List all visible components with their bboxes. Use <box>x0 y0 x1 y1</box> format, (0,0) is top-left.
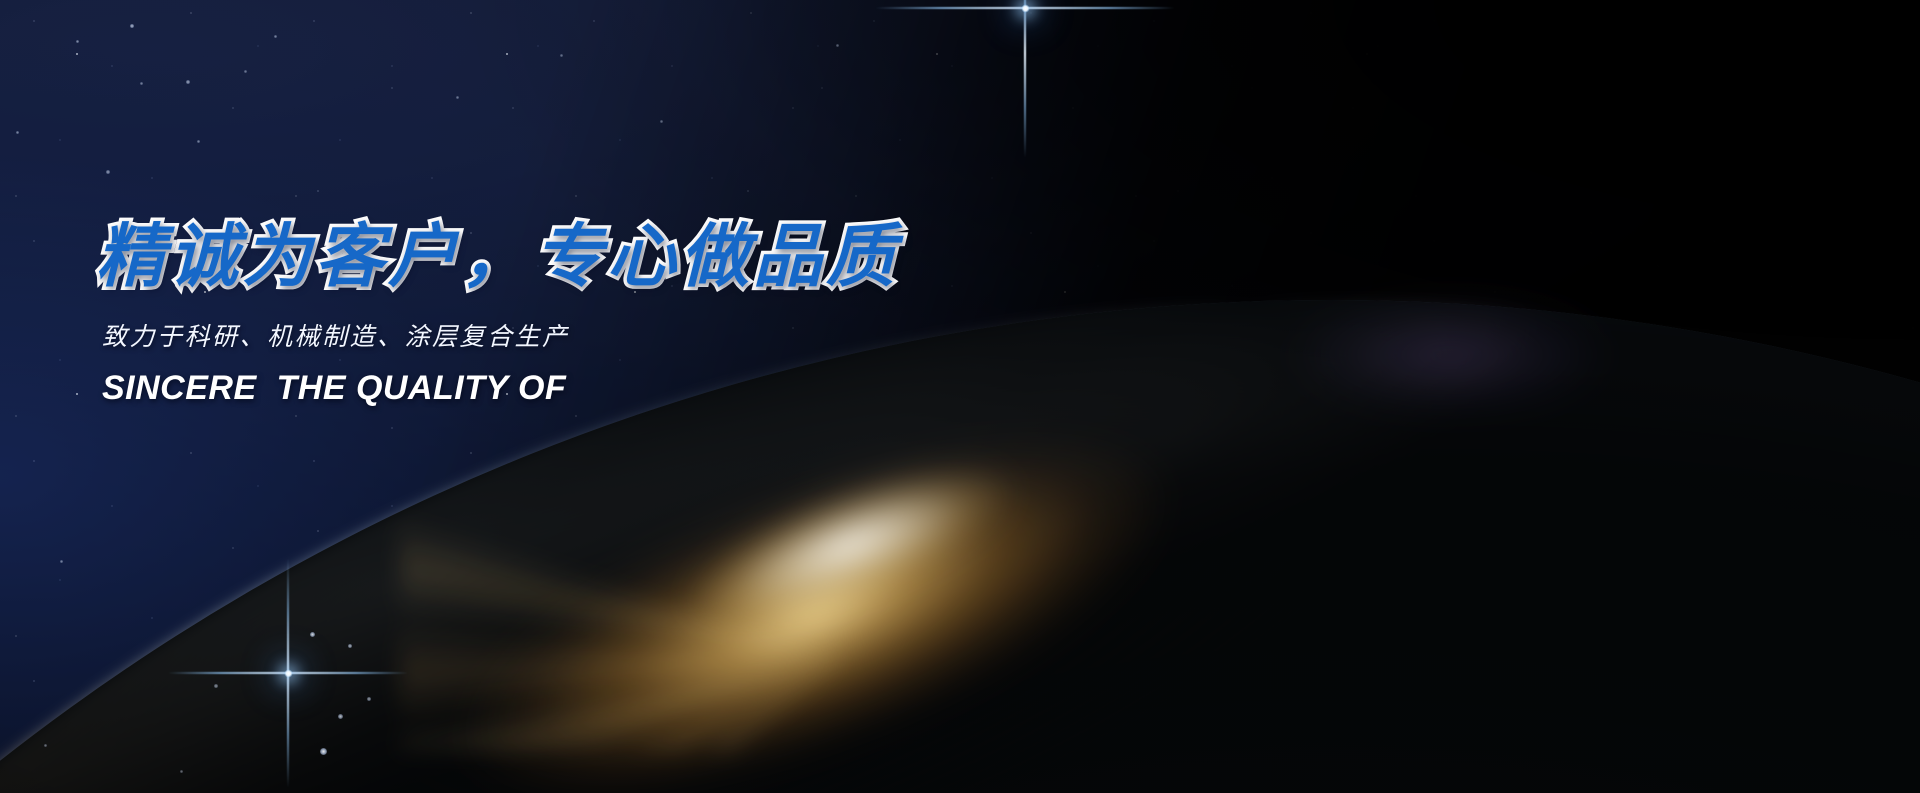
banner-headline: 精诚为客户，专心做品质 <box>96 222 1096 291</box>
hero-banner: 精诚为客户，专心做品质 致力于科研、机械制造、涂层复合生产 SINCERE TH… <box>0 0 1920 793</box>
banner-subtitle-chinese: 致力于科研、机械制造、涂层复合生产 <box>102 317 1096 353</box>
banner-subtitle-english: SINCERE THE QUALITY OF <box>102 369 1096 408</box>
banner-copy: 精诚为客户，专心做品质 致力于科研、机械制造、涂层复合生产 SINCERE TH… <box>96 222 1096 408</box>
